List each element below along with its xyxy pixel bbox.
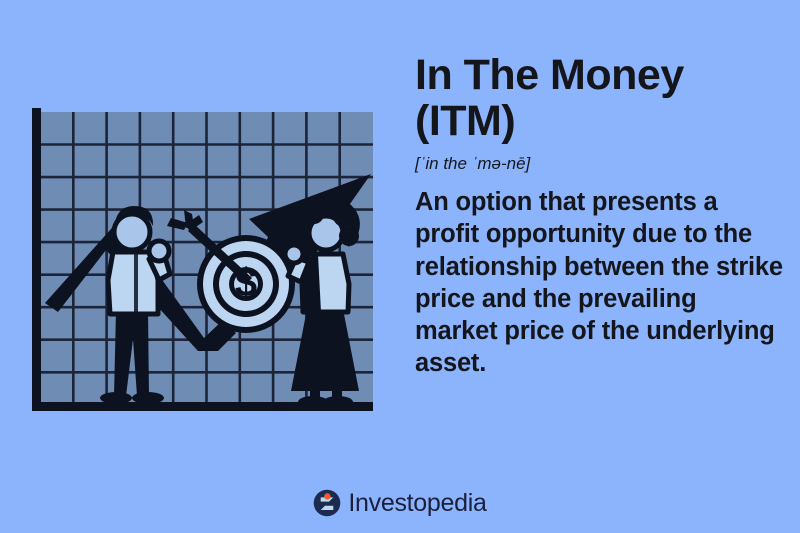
page-title: In The Money (ITM)	[415, 52, 785, 144]
text-column: In The Money (ITM) [ˈin the ˈmə-nē] An o…	[415, 52, 785, 380]
brand-footer: Investopedia	[0, 489, 800, 517]
investopedia-logo-icon	[313, 489, 341, 517]
definition-text: An option that presents a profit opportu…	[415, 186, 785, 380]
axis-bottom	[32, 402, 373, 411]
stock-chart-illustration: $	[18, 104, 398, 429]
pronunciation: [ˈin the ˈmə-nē]	[415, 154, 785, 174]
axis-left	[32, 108, 41, 411]
brand-wordmark: Investopedia	[348, 491, 486, 516]
definition-card: $	[0, 0, 800, 533]
illustration-svg: $	[18, 104, 398, 429]
